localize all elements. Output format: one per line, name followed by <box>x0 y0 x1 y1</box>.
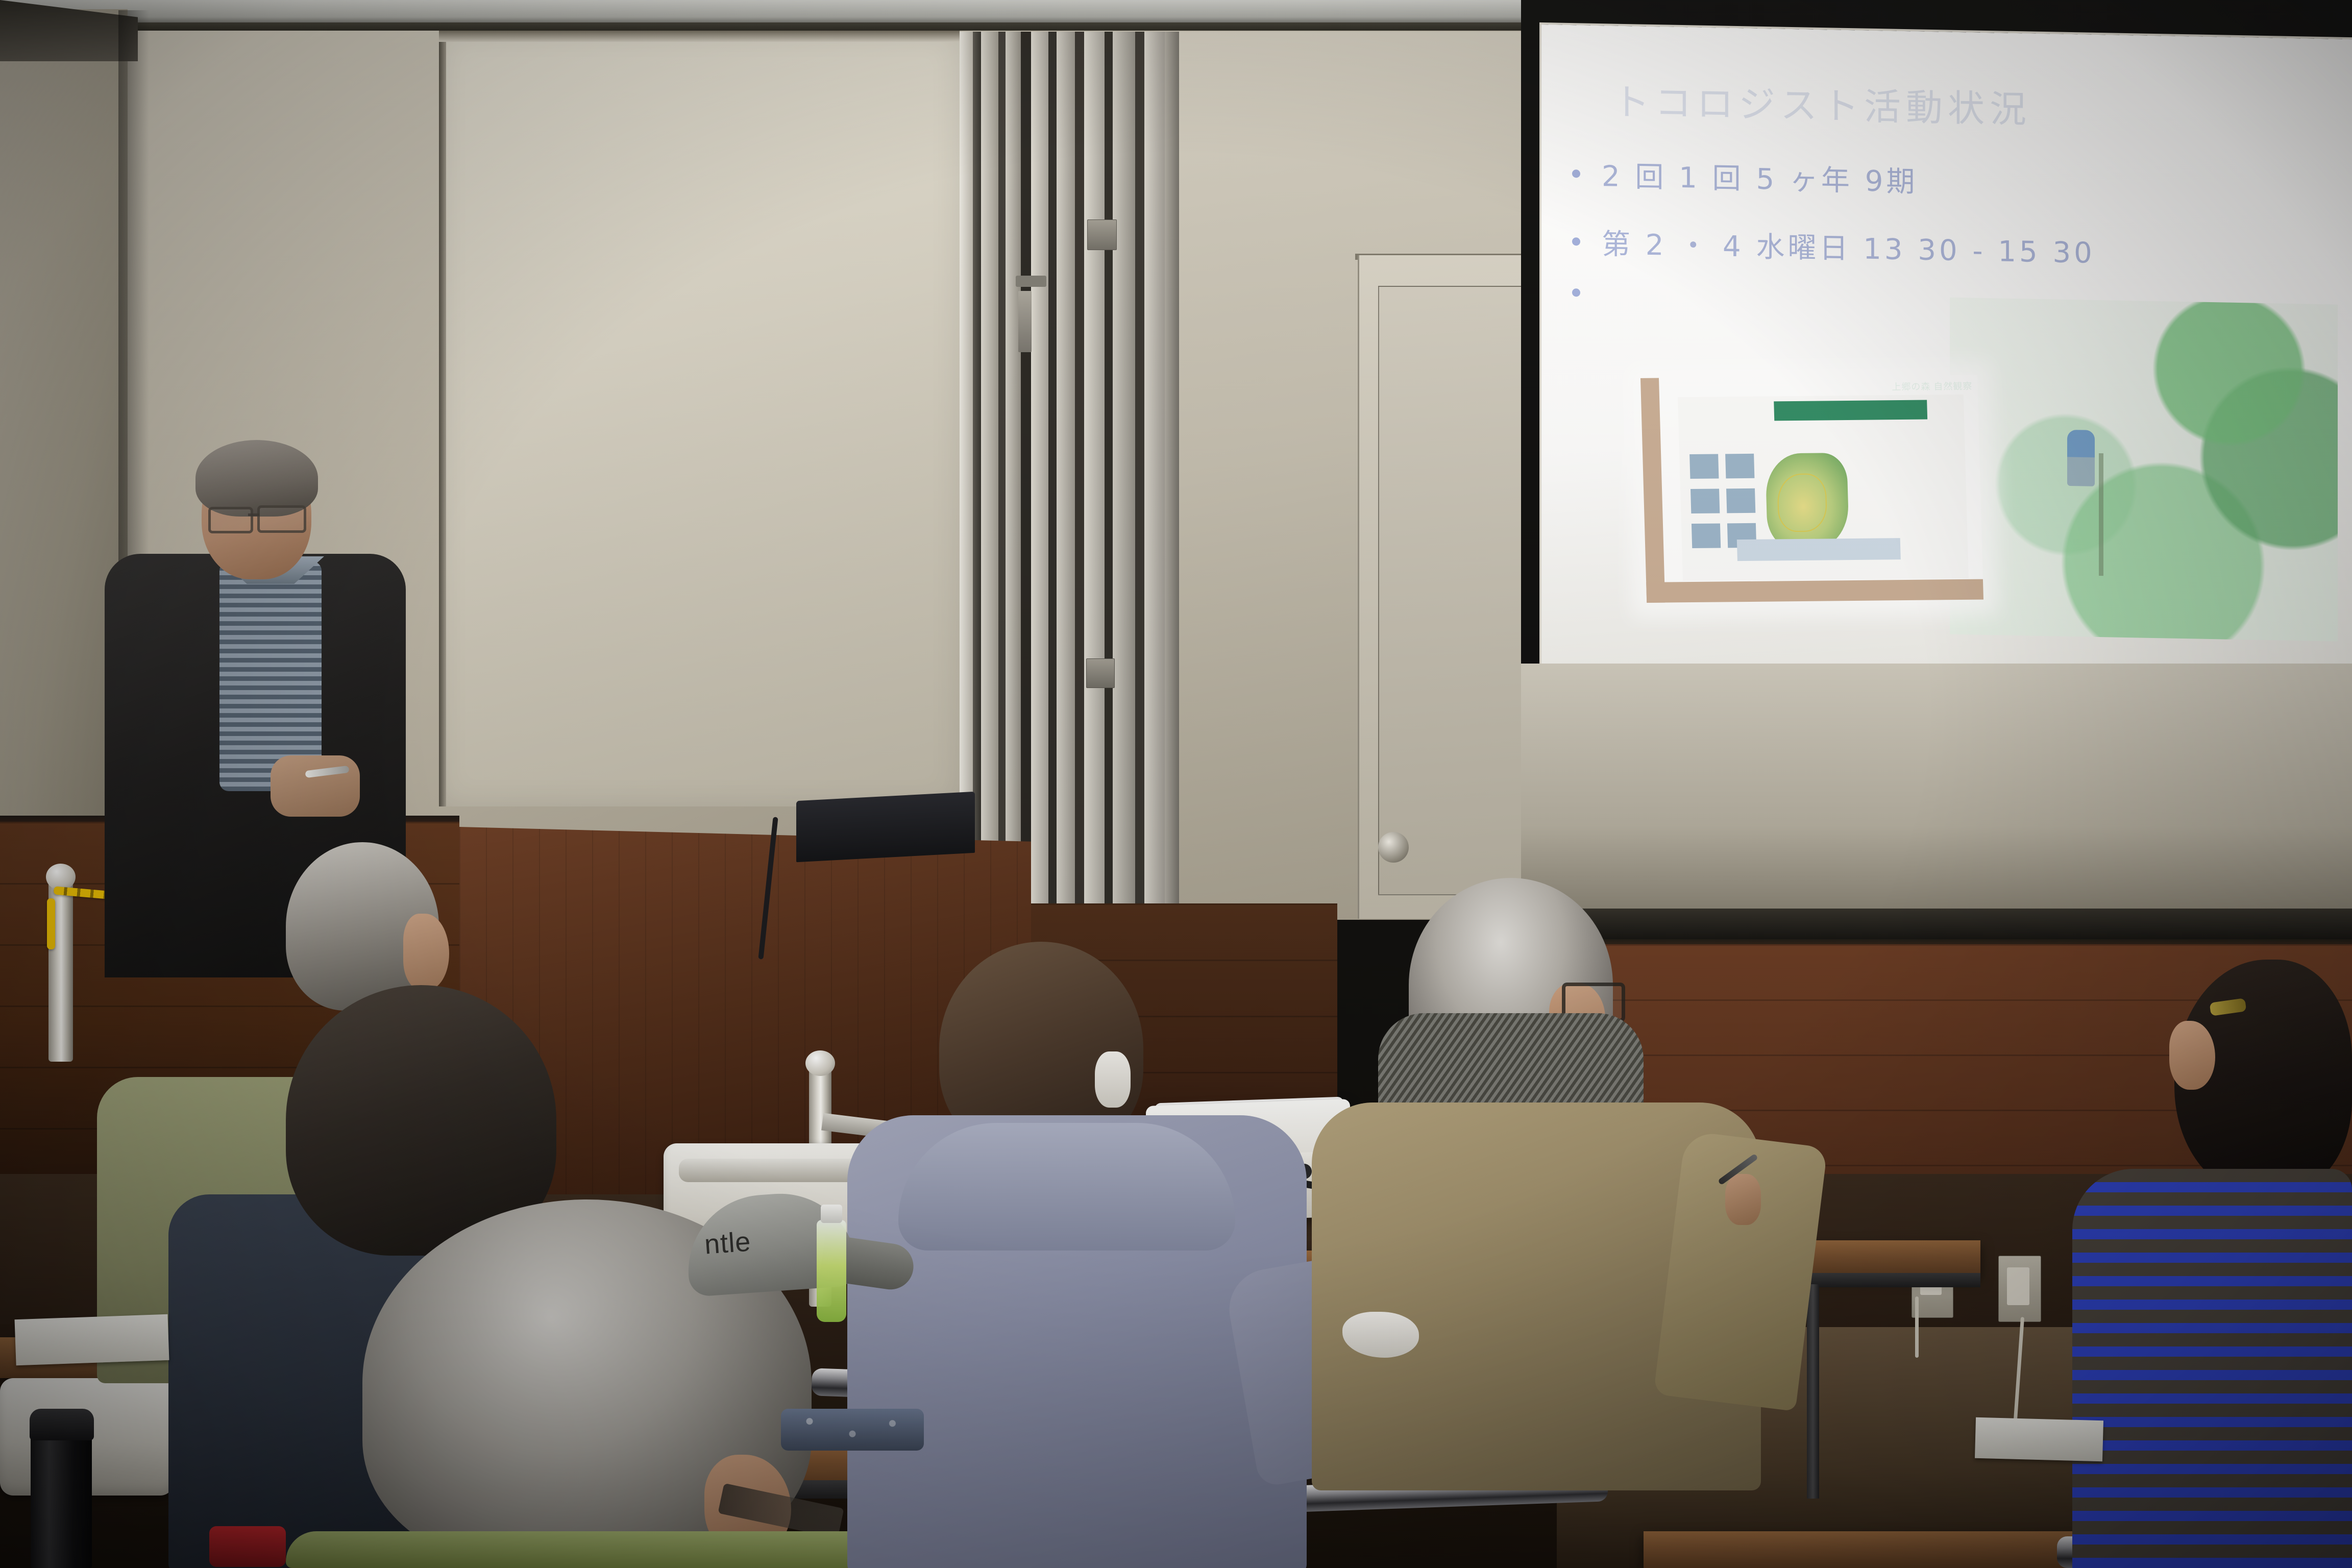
slide-photo-forest <box>1950 298 2338 642</box>
board-header-label: 上郷の森 自然観察 <box>1892 379 1973 394</box>
bullet-dot-icon <box>1572 237 1580 246</box>
face-mask-icon <box>1095 1051 1131 1108</box>
slide-photo-info-board: 上郷の森 自然観察 <box>1640 375 1983 603</box>
bullet-dot-icon <box>1572 169 1580 178</box>
partition-latch[interactable] <box>1018 291 1032 352</box>
red-accessory <box>209 1526 286 1567</box>
drink-bottle <box>817 1220 846 1322</box>
slide-title: トコロジスト活動状況 <box>1613 72 2031 133</box>
bottle-cap <box>821 1205 842 1223</box>
handout-papers-left <box>15 1314 169 1365</box>
stanchion-cap-center <box>805 1050 835 1076</box>
attendee-ear <box>403 914 449 990</box>
board-thumb <box>1725 454 1754 479</box>
partition-handle[interactable] <box>1016 276 1046 287</box>
thermos-lid <box>30 1409 94 1440</box>
barrier-chain-drop <box>47 898 55 949</box>
pouch-pattern <box>781 1409 924 1451</box>
wall-panel-edge <box>439 31 446 806</box>
board-post-left <box>1640 378 1665 603</box>
seminar-room-photo: トコロジスト活動状況 2 回 1 回 5 ヶ年 9期 第 2 ・ 4 水曜日 1… <box>0 0 2352 1568</box>
glasses-icon <box>208 507 253 533</box>
attendee-torso <box>286 1531 898 1568</box>
slide-bullet-2-text: 第 2 ・ 4 水曜日 13 30 - 15 30 <box>1602 221 2095 272</box>
board-thumb <box>1689 454 1719 479</box>
board-post-base <box>1646 579 1983 603</box>
board-header-bar <box>1774 400 1927 421</box>
outlet-socket <box>2007 1267 2029 1305</box>
board-thumb <box>1726 488 1755 513</box>
door-knob[interactable] <box>1378 832 1409 863</box>
board-thumb <box>1692 523 1721 548</box>
glasses-icon <box>257 505 306 533</box>
slide-bullet-1: 2 回 1 回 5 ヶ年 9期 <box>1572 153 2338 208</box>
thermos <box>31 1429 92 1568</box>
folding-partition-wall[interactable] <box>960 32 1179 961</box>
chair-rail <box>679 1159 863 1182</box>
projection-screen: トコロジスト活動状況 2 回 1 回 5 ヶ年 9期 第 2 ・ 4 水曜日 1… <box>1541 24 2352 703</box>
desk-leg <box>1807 1284 1819 1499</box>
stanchion-cap-left <box>46 864 76 890</box>
partition-hinge-upper <box>1087 219 1117 250</box>
wall-panel-top-trim <box>439 31 960 42</box>
slide-bullet-2: 第 2 ・ 4 水曜日 13 30 - 15 30 <box>1572 220 2338 276</box>
slide-bullet-1-text: 2 回 1 回 5 ヶ年 9期 <box>1602 153 1918 200</box>
wall-panel-whiteboard <box>439 31 960 806</box>
presenter-hands <box>271 755 360 817</box>
handout-papers-right <box>1975 1417 2103 1462</box>
attendee-hand <box>1725 1174 1761 1225</box>
forest-tree-trunk <box>2099 453 2103 576</box>
board-map-trail-outline <box>1777 473 1827 532</box>
monitor[interactable] <box>796 792 975 862</box>
attendee-hood <box>898 1123 1235 1251</box>
partition-hinge-lower <box>1086 658 1115 688</box>
forest-hiker-figure <box>2067 430 2095 486</box>
wall-outlet-right[interactable] <box>1998 1256 2041 1322</box>
bullet-dot-icon <box>1572 288 1580 297</box>
glasses-bridge <box>248 513 259 516</box>
power-cord-secondary <box>1915 1296 1919 1358</box>
board-legend-strip <box>1737 538 1901 561</box>
board-thumb <box>1690 488 1720 513</box>
attendee-striped-top <box>2072 1169 2352 1568</box>
